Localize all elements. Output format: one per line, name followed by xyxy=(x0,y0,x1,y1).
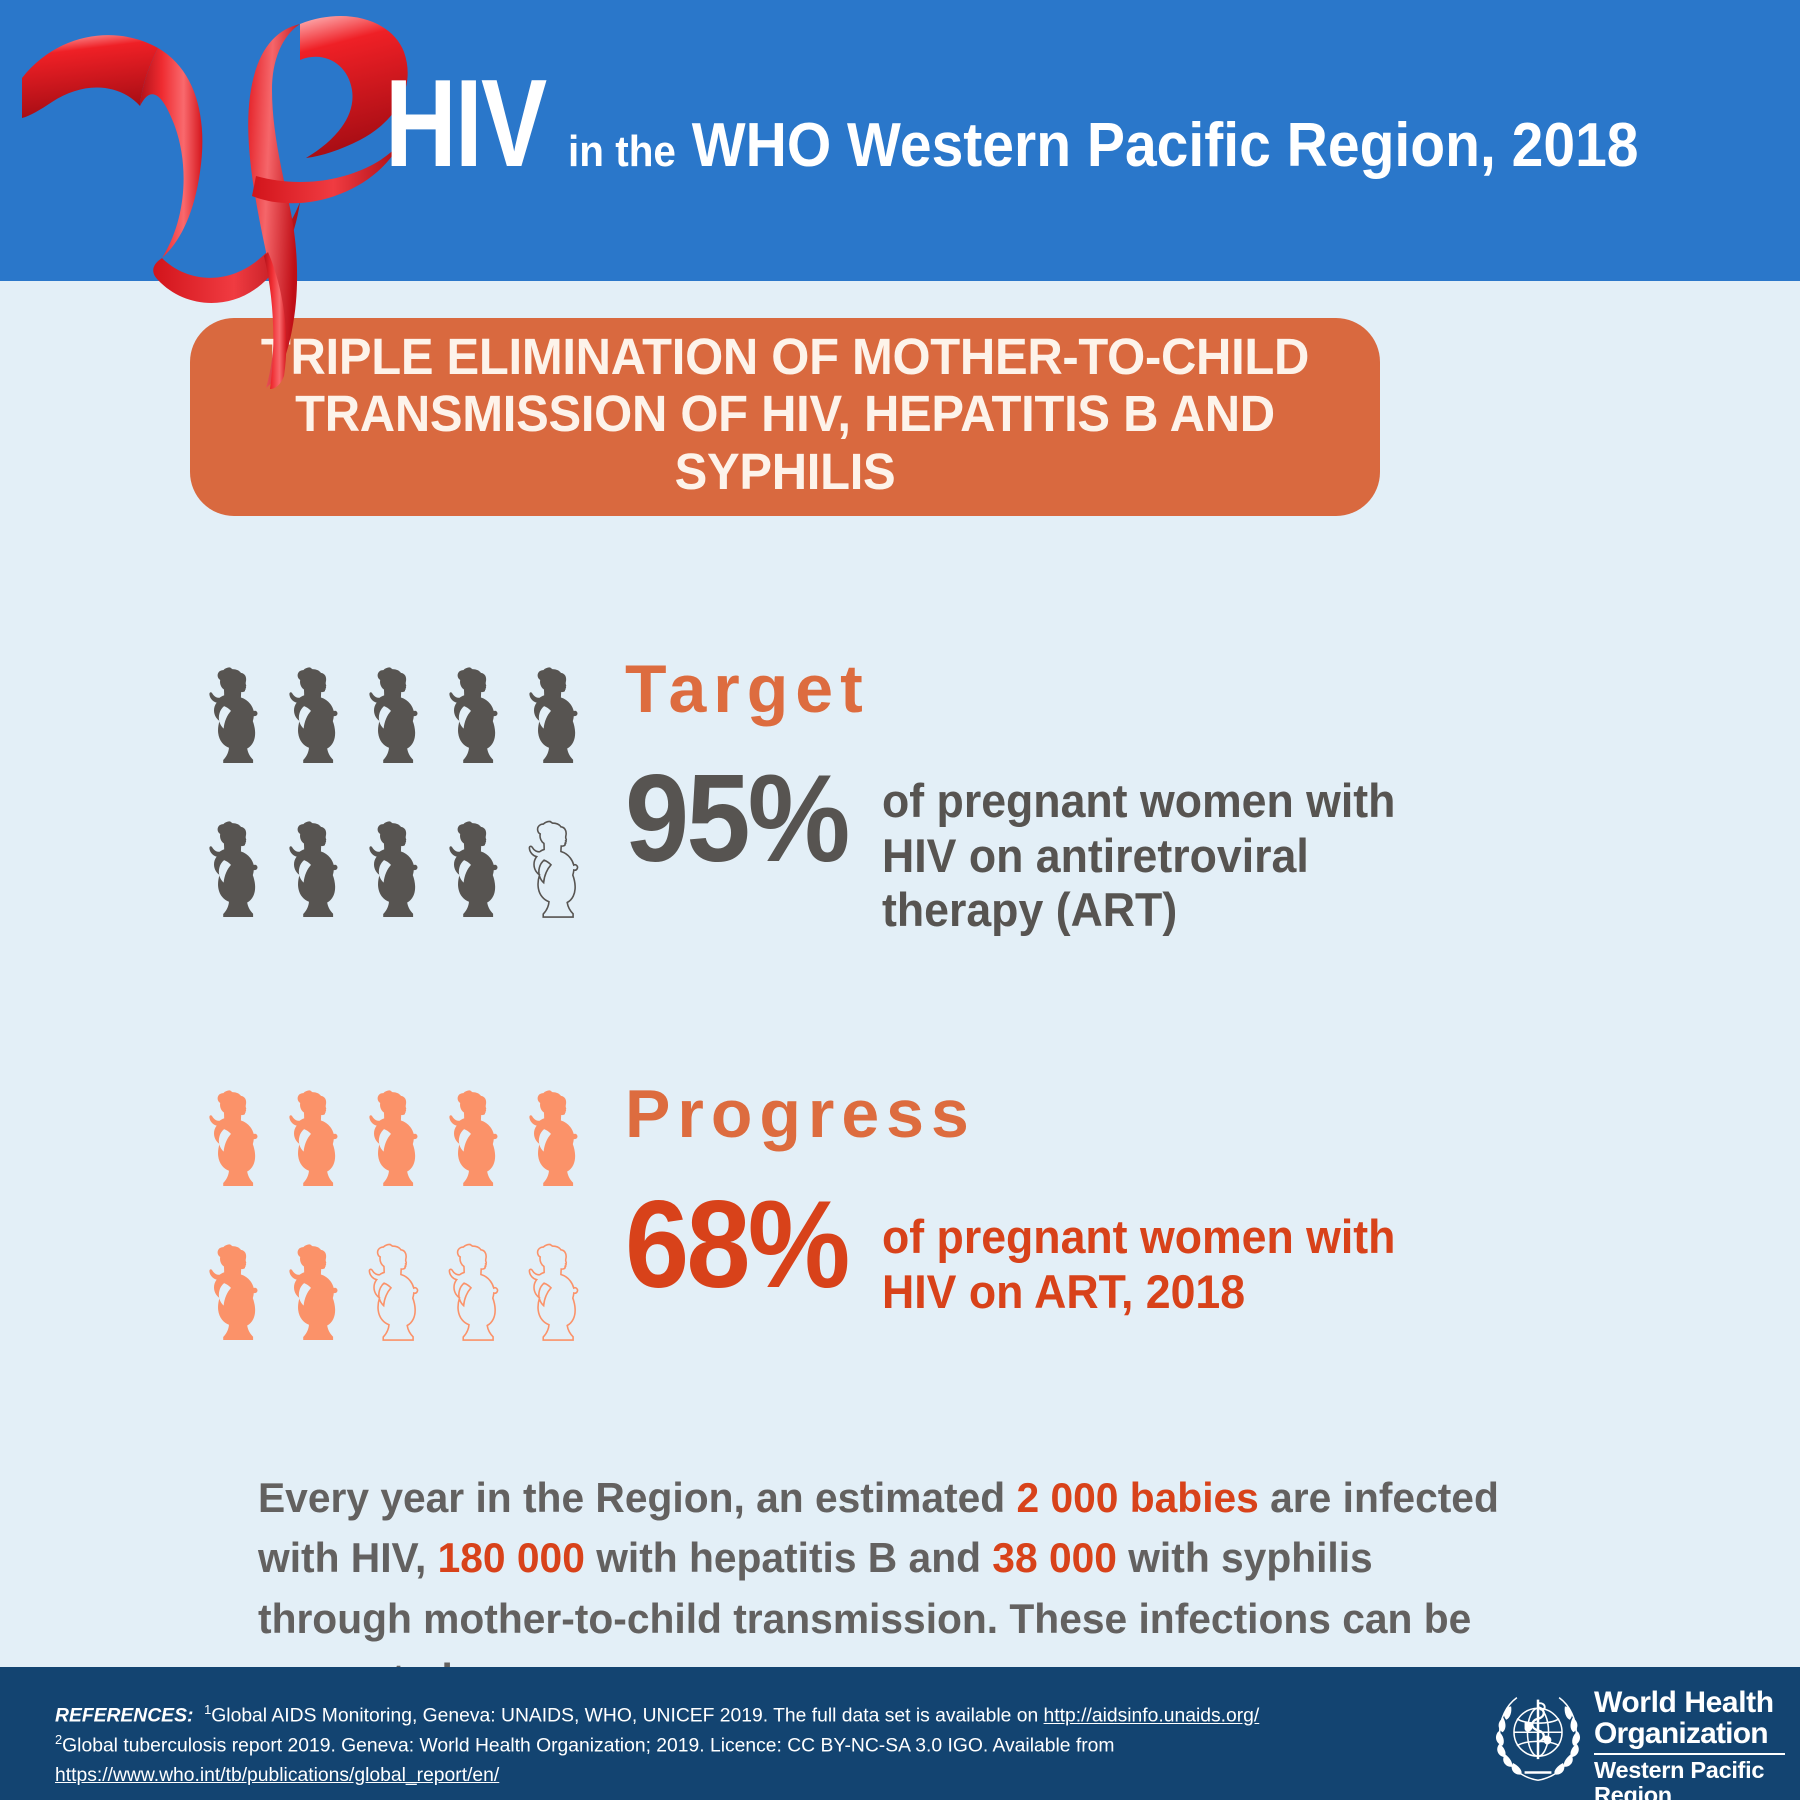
para-part-3: with hepatitis B and xyxy=(585,1534,992,1581)
para-highlight-hepb: 180 000 xyxy=(438,1534,585,1581)
target-percent: 95% xyxy=(625,762,847,876)
who-logo-divider xyxy=(1594,1753,1785,1755)
ref-1-link[interactable]: http://aidsinfo.unaids.org/ xyxy=(1044,1705,1260,1727)
banner-text: TRIPLE ELIMINATION OF MOTHER-TO-CHILD TR… xyxy=(243,328,1328,499)
target-pictogram xyxy=(196,652,588,946)
who-logo-line-1: World Health xyxy=(1594,1688,1785,1719)
pregnant-woman-outline-icon xyxy=(356,1229,428,1369)
pregnant-woman-filled-icon xyxy=(356,806,428,946)
progress-stat: 68% of pregnant women with HIV on ART, 2… xyxy=(625,1188,1423,1319)
pregnant-woman-filled-icon xyxy=(436,652,508,792)
progress-pictogram-row-2 xyxy=(196,1229,588,1369)
title-hiv: HIV xyxy=(385,62,546,186)
title-subtitle: in the WHO Western Pacific Region, 2018 xyxy=(568,115,1639,177)
pregnant-woman-filled-icon xyxy=(356,1075,428,1215)
who-logo-text: World Health Organization Western Pacifi… xyxy=(1594,1688,1785,1800)
progress-pictogram-row-1 xyxy=(196,1075,588,1215)
pregnant-woman-outline-icon xyxy=(436,1229,508,1369)
target-pictogram-row-1 xyxy=(196,652,588,792)
pregnant-woman-filled-icon xyxy=(196,652,268,792)
references-label: REFERENCES: xyxy=(55,1705,193,1727)
who-logo-line-3: Western Pacific Region xyxy=(1594,1758,1785,1800)
target-stat: 95% of pregnant women with HIV on antire… xyxy=(625,762,1423,938)
target-desc-line-3: therapy (ART) xyxy=(882,883,1395,938)
ref-1-marker: 1 xyxy=(204,1702,211,1717)
references-block: REFERENCES: 1Global AIDS Monitoring, Gen… xyxy=(55,1700,1421,1790)
progress-label: Progress xyxy=(625,1080,976,1148)
pregnant-woman-filled-icon xyxy=(436,806,508,946)
banner-line-2: TRANSMISSION OF HIV, HEPATITIS B AND SYP… xyxy=(243,385,1328,499)
who-logo-line-2: Organization xyxy=(1594,1719,1785,1750)
banner-line-1: TRIPLE ELIMINATION OF MOTHER-TO-CHILD xyxy=(243,328,1328,385)
target-label: Target xyxy=(625,655,870,723)
para-part-1: Every year in the Region, an estimated xyxy=(258,1474,1016,1521)
title-region: WHO Western Pacific Region, 2018 xyxy=(692,111,1639,180)
pregnant-woman-filled-icon xyxy=(196,1229,268,1369)
para-highlight-syphilis: 38 000 xyxy=(992,1534,1117,1581)
pregnant-woman-outline-icon xyxy=(516,806,588,946)
progress-percent: 68% xyxy=(625,1188,847,1302)
progress-desc-line-2: HIV on ART, 2018 xyxy=(882,1265,1395,1320)
who-logo: World Health Organization Western Pacifi… xyxy=(1490,1688,1785,1792)
pregnant-woman-filled-icon xyxy=(276,652,348,792)
target-pictogram-row-2 xyxy=(196,806,588,946)
target-desc-line-1: of pregnant women with xyxy=(882,774,1395,829)
progress-description: of pregnant women with HIV on ART, 2018 xyxy=(882,1210,1395,1319)
target-desc-line-2: HIV on antiretroviral xyxy=(882,829,1395,884)
pregnant-woman-filled-icon xyxy=(196,806,268,946)
pregnant-woman-outline-icon xyxy=(516,1229,588,1369)
pregnant-woman-filled-icon xyxy=(196,1075,268,1215)
progress-desc-line-1: of pregnant women with xyxy=(882,1210,1395,1265)
ref-2-text: Global tuberculosis report 2019. Geneva:… xyxy=(62,1735,1114,1757)
para-highlight-babies: 2 000 babies xyxy=(1016,1474,1258,1521)
who-un-laurel-globe-emblem-icon xyxy=(1490,1690,1586,1786)
progress-pictogram xyxy=(196,1075,588,1369)
pregnant-woman-filled-icon xyxy=(276,1075,348,1215)
pregnant-woman-filled-icon xyxy=(436,1075,508,1215)
target-description: of pregnant women with HIV on antiretrov… xyxy=(882,774,1395,938)
pregnant-woman-filled-icon xyxy=(276,806,348,946)
ref-2-link[interactable]: https://www.who.int/tb/publications/glob… xyxy=(55,1764,499,1786)
pregnant-woman-filled-icon xyxy=(516,652,588,792)
pregnant-woman-filled-icon xyxy=(276,1229,348,1369)
pregnant-woman-filled-icon xyxy=(516,1075,588,1215)
header-title: HIV in the WHO Western Pacific Region, 2… xyxy=(385,62,1731,186)
infographic-page: HIV in the WHO Western Pacific Region, 2… xyxy=(0,0,1800,1800)
ref-1-text: Global AIDS Monitoring, Geneva: UNAIDS, … xyxy=(211,1705,1043,1727)
title-prefix: in the xyxy=(568,127,676,176)
banner-title: TRIPLE ELIMINATION OF MOTHER-TO-CHILD TR… xyxy=(190,318,1380,516)
pregnant-woman-filled-icon xyxy=(356,652,428,792)
